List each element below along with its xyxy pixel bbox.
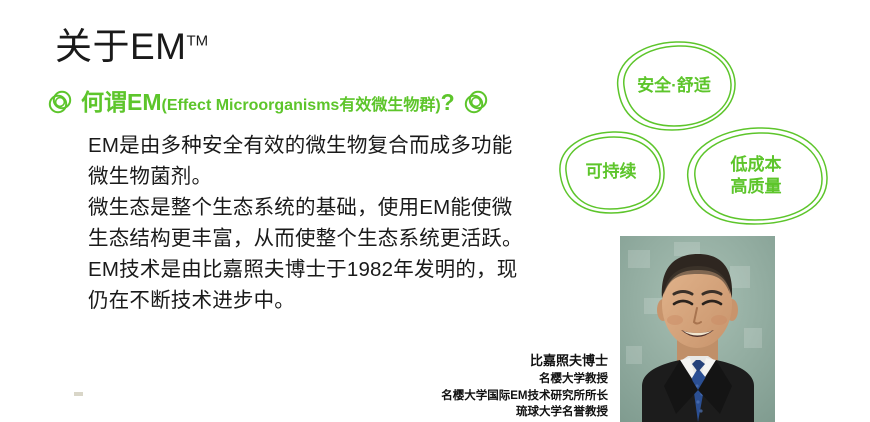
section-heading: 何谓EM(Effect Microorganisms有效微生物群)? (46, 88, 490, 116)
body-line: EM是由多种安全有效的微生物复合而成多功能 (88, 130, 568, 161)
section-heading-paren: (Effect Microorganisms有效微生物群) (162, 97, 441, 114)
slide-root: 关于EMTM 何谓EM(Effect Microorganisms有效微生物群)… (0, 0, 870, 422)
body-line: EM技术是由比嘉照夫博士于1982年发明的，现 (88, 254, 568, 285)
feature-bubble-safety: 安全·舒适 (608, 38, 740, 134)
caption-line: 琉球大学名誉教授 (441, 404, 608, 421)
trademark-mark: TM (187, 33, 209, 50)
body-line: 仍在不断技术进步中。 (88, 285, 568, 316)
caption-line: 名樱大学国际EM技术研究所所长 (441, 388, 608, 405)
swirl-circles-icon-right (462, 88, 490, 116)
feature-bubble-sustainable: 可持续 (553, 128, 669, 216)
feature-bubble-label: 低成本 高质量 (731, 154, 782, 198)
section-heading-question: ? (441, 89, 455, 115)
faint-artifact-mark (74, 392, 83, 396)
photo-caption: 比嘉照夫博士 名樱大学教授 名樱大学国际EM技术研究所所长 琉球大学名誉教授 (441, 352, 608, 421)
body-line: 生态结构更丰富，从而使整个生态系统更活跃。 (88, 223, 568, 254)
section-heading-text: 何谓EM(Effect Microorganisms有效微生物群)? (81, 91, 455, 114)
feature-bubble-label: 可持续 (586, 161, 637, 183)
portrait-photo (620, 236, 775, 422)
page-title: 关于EMTM (55, 28, 208, 65)
body-paragraph: EM是由多种安全有效的微生物复合而成多功能 微生物菌剂。 微生态是整个生态系统的… (88, 130, 568, 316)
section-heading-cn: 何谓EM (81, 89, 162, 115)
page-title-text: 关于EM (55, 26, 187, 67)
body-line: 微生物菌剂。 (88, 161, 568, 192)
swirl-circles-icon-left (46, 88, 74, 116)
feature-bubble-cost-quality: 低成本 高质量 (680, 123, 832, 229)
caption-name: 比嘉照夫博士 (441, 352, 608, 371)
body-line: 微生态是整个生态系统的基础，使用EM能使微 (88, 192, 568, 223)
feature-bubble-label: 安全·舒适 (637, 75, 711, 97)
caption-line: 名樱大学教授 (441, 371, 608, 388)
